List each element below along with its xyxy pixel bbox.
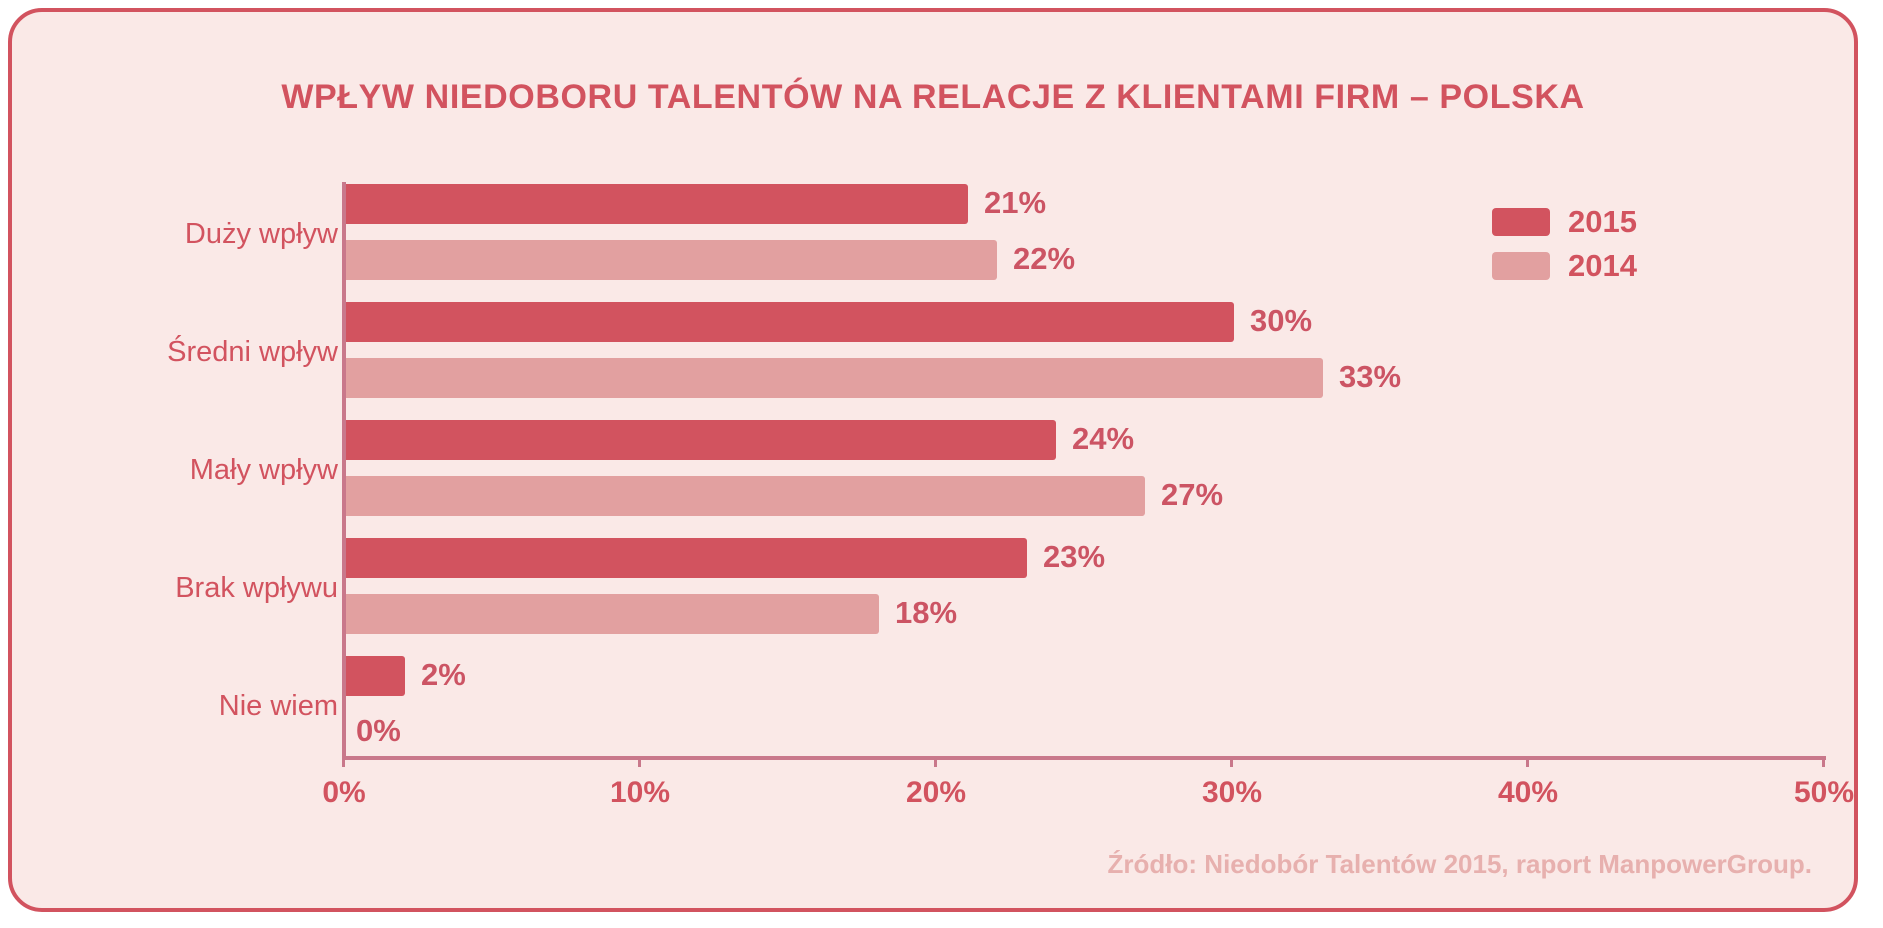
chart-canvas: WPŁYW NIEDOBORU TALENTÓW NA RELACJE Z KL… [0, 0, 1883, 928]
category-label: Brak wpływu [175, 572, 338, 605]
bar-2015 [346, 656, 405, 696]
bar-value-2015: 23% [1043, 539, 1105, 575]
bar-value-2015: 30% [1250, 303, 1312, 339]
legend-swatch-2015 [1492, 208, 1550, 236]
category-label: Duży wpływ [185, 218, 338, 251]
x-tick-2 [934, 756, 937, 767]
bar-group: Mały wpływ 24% 27% [346, 418, 1826, 532]
category-label: Średni wpływ [167, 336, 338, 369]
page-title: WPŁYW NIEDOBORU TALENTÓW NA RELACJE Z KL… [12, 78, 1854, 117]
bar-value-2014: 22% [1013, 241, 1075, 277]
x-tick-0 [342, 756, 345, 767]
bar-2014 [346, 594, 879, 634]
x-tick-label-0: 0% [322, 776, 365, 810]
category-label: Mały wpływ [190, 454, 338, 487]
legend-item-2014: 2014 [1492, 244, 1637, 288]
bar-value-2014: 0% [356, 713, 401, 749]
x-tick-label-5: 50% [1794, 776, 1854, 810]
x-tick-label-1: 10% [610, 776, 670, 810]
x-tick-label-3: 30% [1202, 776, 1262, 810]
category-label: Nie wiem [219, 690, 338, 723]
bar-2014 [346, 358, 1323, 398]
bar-2014 [346, 240, 997, 280]
bar-2015 [346, 420, 1056, 460]
source-note: Źródło: Niedobór Talentów 2015, raport M… [1108, 849, 1812, 880]
bar-value-2014: 27% [1161, 477, 1223, 513]
x-tick-3 [1230, 756, 1233, 767]
bar-2014 [346, 476, 1145, 516]
x-tick-1 [638, 756, 641, 767]
x-tick-4 [1526, 756, 1529, 767]
x-axis-line [342, 756, 1826, 760]
bar-value-2014: 18% [895, 595, 957, 631]
chart-card: WPŁYW NIEDOBORU TALENTÓW NA RELACJE Z KL… [8, 8, 1858, 912]
bar-value-2015: 2% [421, 657, 466, 693]
bar-value-2014: 33% [1339, 359, 1401, 395]
bar-2015 [346, 538, 1027, 578]
bar-value-2015: 21% [984, 185, 1046, 221]
bar-group: Średni wpływ 30% 33% [346, 300, 1826, 414]
bar-2015 [346, 302, 1234, 342]
bar-group: Nie wiem 2% 0% [346, 654, 1826, 756]
legend-label-2014: 2014 [1568, 248, 1637, 284]
x-tick-label-4: 40% [1498, 776, 1558, 810]
legend-label-2015: 2015 [1568, 204, 1637, 240]
legend: 2015 2014 [1492, 200, 1637, 288]
x-tick-label-2: 20% [906, 776, 966, 810]
x-tick-5 [1822, 756, 1825, 767]
bar-group: Brak wpływu 23% 18% [346, 536, 1826, 650]
bar-2015 [346, 184, 968, 224]
bar-value-2015: 24% [1072, 421, 1134, 457]
legend-item-2015: 2015 [1492, 200, 1637, 244]
legend-swatch-2014 [1492, 252, 1550, 280]
